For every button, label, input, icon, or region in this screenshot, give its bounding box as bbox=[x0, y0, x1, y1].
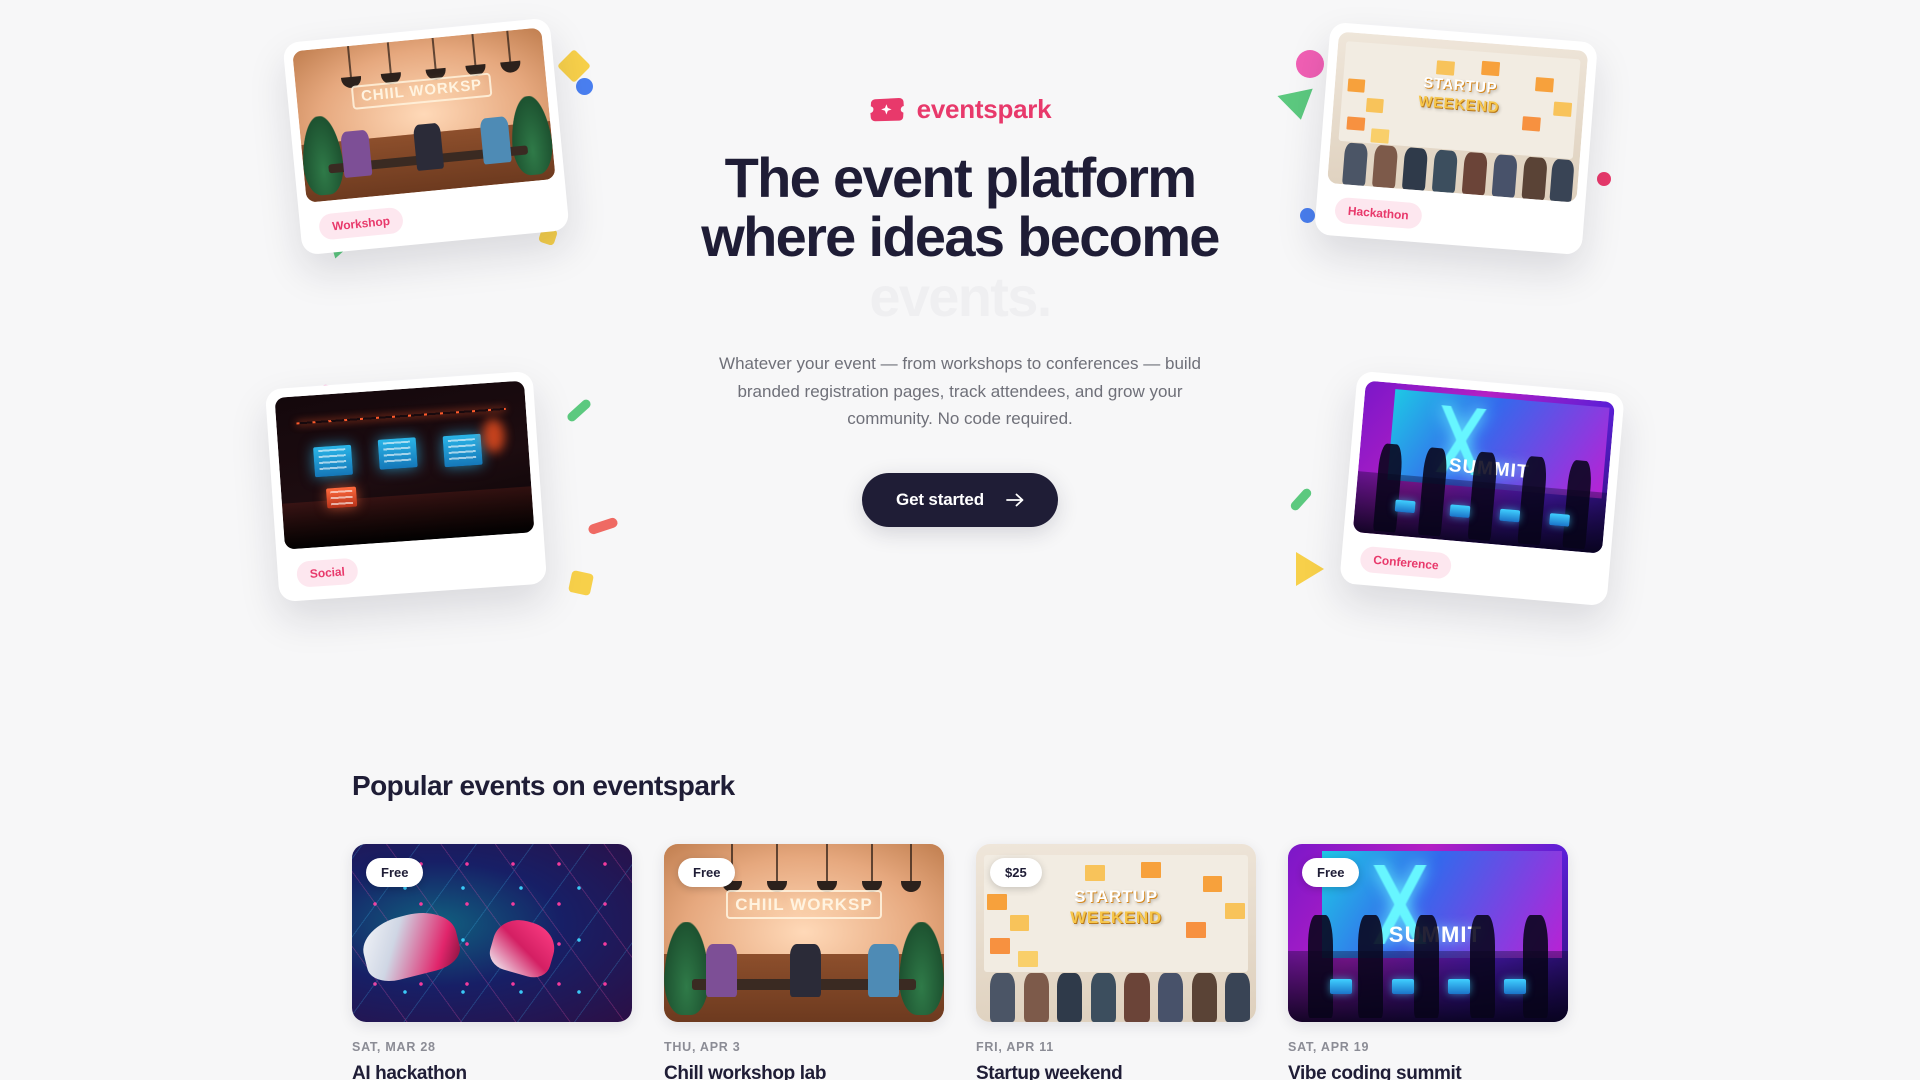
popular-events-title: Popular events on eventspark bbox=[352, 770, 1568, 802]
floating-card-workshop-image: CHIIL WORKSP bbox=[292, 27, 555, 202]
event-price-badge: Free bbox=[366, 858, 423, 887]
event-card[interactable]: $25 bbox=[976, 844, 1256, 1080]
event-date: SAT, MAR 28 bbox=[352, 1040, 632, 1054]
badge-workshop: Workshop bbox=[318, 207, 404, 241]
decor-triangle-yellow-right bbox=[1296, 552, 1324, 586]
event-title: AI hackathon bbox=[352, 1063, 632, 1080]
brand-name: eventspark bbox=[917, 96, 1052, 122]
floating-card-social-image bbox=[275, 381, 535, 550]
decor-circle-magenta-right bbox=[1597, 172, 1611, 186]
event-date: THU, APR 3 bbox=[664, 1040, 944, 1054]
floating-card-hackathon-image: STARTUP WEEKEND bbox=[1327, 31, 1588, 202]
badge-conference: Conference bbox=[1359, 546, 1452, 580]
event-card-image: Free bbox=[352, 844, 632, 1022]
landing-page: CHIIL WORKSP Workshop bbox=[0, 0, 1920, 1080]
hero-section: CHIIL WORKSP Workshop bbox=[0, 0, 1920, 700]
decor-square-yellow-bottom bbox=[568, 570, 594, 596]
hero-content: eventspark The event platform where idea… bbox=[610, 96, 1310, 527]
event-card-image: $25 bbox=[976, 844, 1256, 1022]
get-started-button[interactable]: Get started bbox=[862, 473, 1058, 527]
popular-events-grid: Free SAT, MAR 28 AI hackathon Free bbox=[352, 844, 1568, 1080]
floating-card-conference[interactable]: SUMMIT Conference bbox=[1339, 371, 1625, 607]
event-card[interactable]: Free CHIIL WORKSP bbox=[664, 844, 944, 1080]
decor-circle-blue bbox=[576, 78, 593, 95]
floating-card-hackathon[interactable]: STARTUP WEEKEND Hackathon bbox=[1314, 22, 1598, 255]
headline-line-3-animated: events. bbox=[610, 267, 1310, 326]
floating-card-workshop[interactable]: CHIIL WORKSP Workshop bbox=[282, 18, 569, 256]
brand-lockup[interactable]: eventspark bbox=[610, 96, 1310, 122]
event-card-image: Free CHIIL WORKSP bbox=[664, 844, 944, 1022]
hero-cta-wrap: Get started bbox=[610, 473, 1310, 527]
event-title: Chill workshop lab bbox=[664, 1063, 944, 1080]
badge-social: Social bbox=[296, 558, 359, 588]
get-started-label: Get started bbox=[896, 490, 984, 510]
event-price-badge: $25 bbox=[990, 858, 1042, 887]
ticket-spark-icon bbox=[869, 97, 905, 122]
decor-dash-green bbox=[566, 398, 593, 423]
event-title: Vibe coding summit bbox=[1288, 1063, 1568, 1080]
floating-card-social[interactable]: Social bbox=[265, 371, 547, 602]
event-price-badge: Free bbox=[1302, 858, 1359, 887]
badge-hackathon: Hackathon bbox=[1334, 197, 1423, 230]
event-card[interactable]: Free SAT, MAR 28 AI hackathon bbox=[352, 844, 632, 1080]
event-date: FRI, APR 11 bbox=[976, 1040, 1256, 1054]
floating-card-conference-image: SUMMIT bbox=[1353, 380, 1615, 553]
arrow-right-icon bbox=[1006, 493, 1024, 507]
event-card[interactable]: Free SUMMIT bbox=[1288, 844, 1568, 1080]
headline-line-2: where ideas become bbox=[701, 205, 1219, 268]
page-title: The event platform where ideas become ev… bbox=[610, 148, 1310, 326]
event-title: Startup weekend bbox=[976, 1063, 1256, 1080]
headline-line-1: The event platform bbox=[725, 146, 1196, 209]
decor-circle-pink-right bbox=[1296, 50, 1324, 78]
event-card-image: Free SUMMIT bbox=[1288, 844, 1568, 1022]
hero-subheading: Whatever your event — from workshops to … bbox=[700, 350, 1220, 433]
event-date: SAT, APR 19 bbox=[1288, 1040, 1568, 1054]
event-price-badge: Free bbox=[678, 858, 735, 887]
popular-events-section: Popular events on eventspark Free SAT, M… bbox=[0, 770, 1920, 1080]
